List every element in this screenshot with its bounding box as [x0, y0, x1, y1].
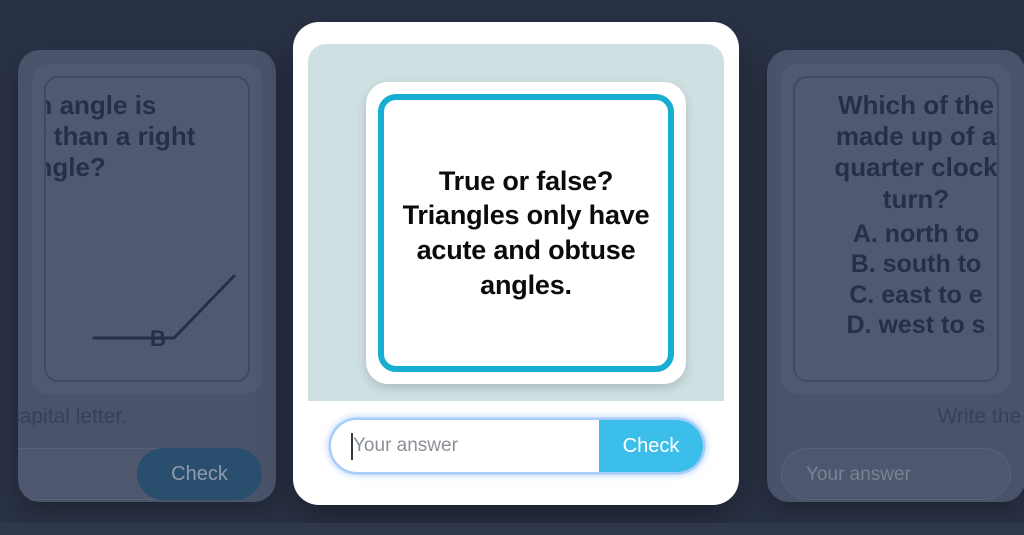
- question-panel: True or false? Triangles only have acute…: [308, 44, 724, 401]
- next-question-options: A. north to B. south to C. east to e D. …: [805, 219, 999, 341]
- next-question-frame: Which of the made up of a quarter clock …: [793, 76, 999, 382]
- next-answer-row: Your answer: [781, 448, 1011, 500]
- quiz-carousel-stage: ch angle is er than a right angle? B he …: [0, 0, 1024, 535]
- previous-question-panel: ch angle is er than a right angle? B: [32, 64, 262, 394]
- previous-question-text: ch angle is er than a right angle?: [44, 90, 238, 184]
- angle-diagram-svg: [46, 228, 250, 382]
- angle-diagram-label: B: [150, 326, 166, 352]
- answer-input-wrapper[interactable]: Check: [331, 420, 703, 472]
- next-question-panel: Which of the made up of a quarter clock …: [781, 64, 1011, 394]
- previous-question-card[interactable]: ch angle is er than a right angle? B he …: [18, 50, 276, 502]
- answer-input[interactable]: [331, 420, 599, 472]
- bottom-band: [0, 523, 1024, 535]
- previous-check-button[interactable]: Check: [137, 448, 262, 500]
- angle-diagram: B: [46, 228, 248, 382]
- next-question-card[interactable]: Which of the made up of a quarter clock …: [767, 50, 1024, 502]
- previous-question-frame: ch angle is er than a right angle? B: [44, 76, 250, 382]
- previous-answer-row: Check: [32, 448, 262, 500]
- question-text: True or false? Triangles only have acute…: [403, 164, 650, 302]
- next-answer-prompt: Write the capita: [767, 405, 1024, 429]
- question-accent-border: True or false? Triangles only have acute…: [378, 94, 674, 372]
- text-caret: [351, 433, 353, 460]
- next-answer-input[interactable]: Your answer: [781, 448, 1011, 500]
- next-question-text: Which of the made up of a quarter clock …: [805, 90, 999, 215]
- question-frame: True or false? Triangles only have acute…: [366, 82, 686, 384]
- answer-row: Check: [331, 420, 703, 472]
- previous-answer-prompt: he capital letter.: [18, 405, 276, 429]
- check-button[interactable]: Check: [599, 420, 703, 472]
